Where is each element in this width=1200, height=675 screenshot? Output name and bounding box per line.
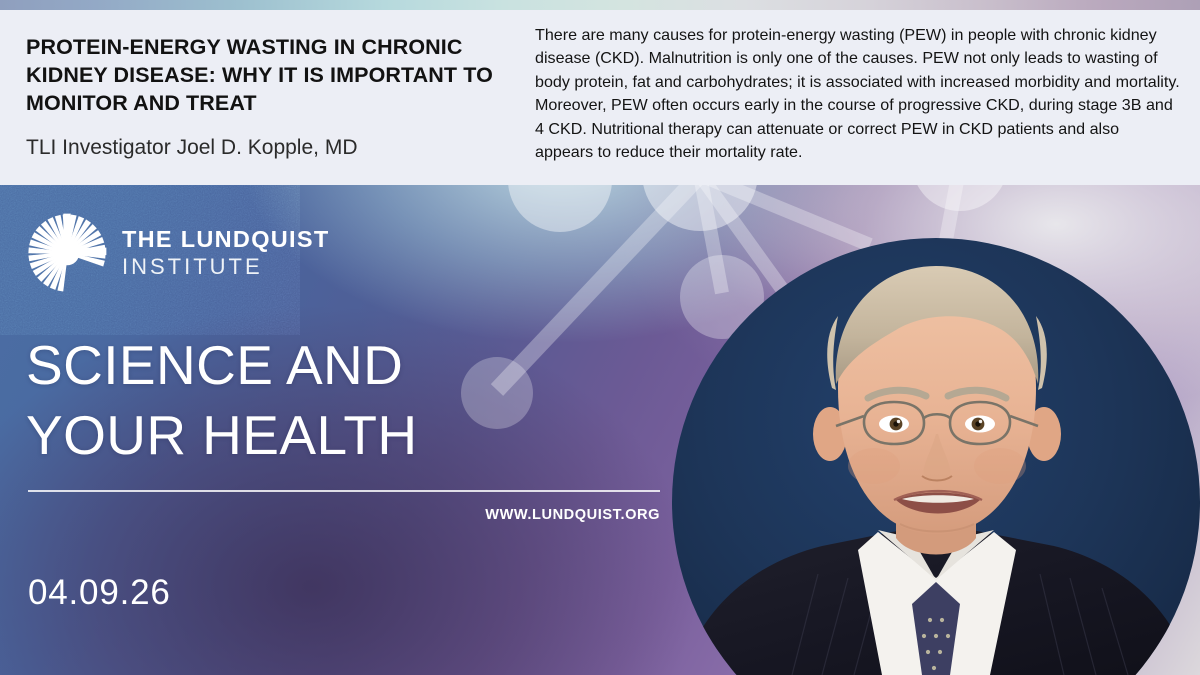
top-accent-strip [0, 0, 1200, 10]
brand-wordmark-line2: INSTITUTE [122, 255, 330, 280]
header-panel: PROTEIN-ENERGY WASTING IN CHRONIC KIDNEY… [0, 10, 1200, 185]
header-left-column: PROTEIN-ENERGY WASTING IN CHRONIC KIDNEY… [26, 34, 496, 161]
hero-content: THE LUNDQUIST INSTITUTE SCIENCE AND YOUR… [0, 185, 700, 675]
sunburst-l-mark-icon [26, 212, 108, 294]
divider-rule [28, 490, 660, 492]
hero-headline-line1: SCIENCE AND [26, 333, 686, 397]
avatar [672, 238, 1200, 675]
hero-headline: SCIENCE AND YOUR HEALTH [26, 333, 686, 468]
website-url[interactable]: WWW.LUNDQUIST.ORG [0, 507, 660, 523]
brand-wordmark: THE LUNDQUIST INSTITUTE [122, 226, 330, 280]
presenter-name: TLI Investigator Joel D. Kopple, MD [26, 135, 496, 161]
presentation-slide: PROTEIN-ENERGY WASTING IN CHRONIC KIDNEY… [0, 0, 1200, 675]
page-title: PROTEIN-ENERGY WASTING IN CHRONIC KIDNEY… [26, 34, 496, 118]
brand-logo[interactable]: THE LUNDQUIST INSTITUTE [26, 212, 330, 294]
event-date: 04.09.26 [28, 573, 171, 613]
hero-headline-line2: YOUR HEALTH [26, 403, 686, 467]
brand-wordmark-line1: THE LUNDQUIST [122, 228, 330, 252]
abstract-text: There are many causes for protein-energy… [535, 24, 1180, 164]
